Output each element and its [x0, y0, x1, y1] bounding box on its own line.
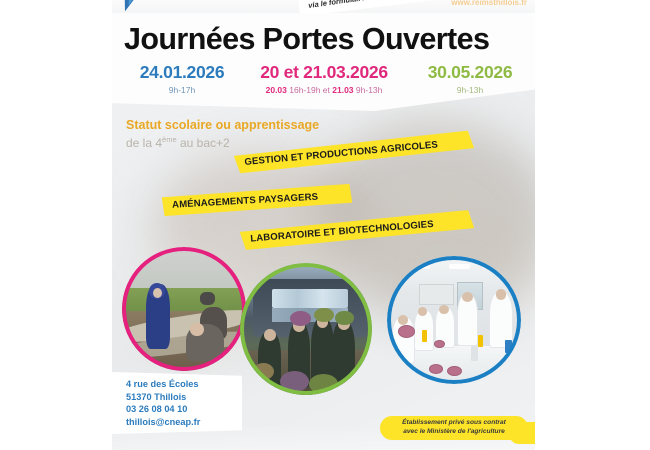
photo-laboratory-image	[387, 256, 521, 384]
address-block: 4 rue des Écoles 51370 Thillois 03 26 08…	[126, 378, 200, 428]
address-city: 51370 Thillois	[126, 391, 200, 404]
date-3-value: 30.05.2026	[408, 62, 532, 83]
address-street: 4 rue des Écoles	[126, 378, 200, 391]
dates-row: 24.01.2026 9h-17h 20 et 21.03.2026 20.03…	[112, 62, 535, 104]
date-2-hours-prefix-2: 21.03	[332, 85, 353, 95]
photo-agriculture-image	[122, 247, 246, 371]
screenshot-canvas: via le formulaire www.reimsthillois.fr J…	[0, 0, 650, 450]
status-subline-post: au bac+2	[177, 136, 230, 150]
date-2-hours-prefix-1: 20.03	[266, 85, 287, 95]
status-subline-pre: de la 4	[126, 136, 162, 150]
date-2-value: 20 et 21.03.2026	[240, 62, 408, 83]
status-headline: Statut scolaire ou apprentissage	[126, 118, 319, 132]
poster-header-strip: via le formulaire www.reimsthillois.fr	[112, 0, 535, 14]
ministry-badge-line-2: avec le Ministère de l'agriculture	[403, 428, 505, 437]
ministry-badge-line-1: Établissement privé sous contrat	[402, 419, 506, 428]
date-1-hours: 9h-17h	[120, 85, 244, 95]
poster: via le formulaire www.reimsthillois.fr J…	[112, 0, 535, 450]
date-block-3: 30.05.2026 9h-13h	[408, 62, 532, 95]
photo-circle-agriculture	[122, 247, 246, 371]
date-2-hours-1: 16h-19h et	[287, 85, 332, 95]
status-badge: Établissement privé sous contrat avec le…	[380, 416, 528, 440]
program-banner-2: AMÉNAGEMENTS PAYSAGERS	[162, 184, 353, 217]
date-block-2: 20 et 21.03.2026 20.03 16h-19h et 21.03 …	[240, 62, 408, 95]
website-url[interactable]: www.reimsthillois.fr	[451, 0, 527, 7]
status-block: Statut scolaire ou apprentissage de la 4…	[126, 118, 319, 150]
program-banner-3: LABORATOIRE ET BIOTECHNOLOGIES	[239, 210, 474, 251]
address-email[interactable]: thillois@cneap.fr	[126, 416, 200, 429]
yellow-corner-accent	[509, 422, 535, 444]
date-3-hours: 9h-13h	[408, 85, 532, 95]
date-block-1: 24.01.2026 9h-17h	[120, 62, 244, 95]
date-2-hours: 20.03 16h-19h et 21.03 9h-13h	[240, 85, 408, 95]
status-subline-sup: ème	[162, 135, 177, 144]
status-subline: de la 4ème au bac+2	[126, 135, 319, 150]
photo-landscaping-image	[240, 263, 372, 395]
date-1-value: 24.01.2026	[120, 62, 244, 83]
address-phone[interactable]: 03 26 08 04 10	[126, 403, 200, 416]
photo-circle-laboratory	[387, 256, 521, 384]
page-title: Journées Portes Ouvertes	[124, 22, 524, 57]
date-2-hours-2: 9h-13h	[354, 85, 383, 95]
photo-circle-landscaping	[240, 263, 372, 395]
